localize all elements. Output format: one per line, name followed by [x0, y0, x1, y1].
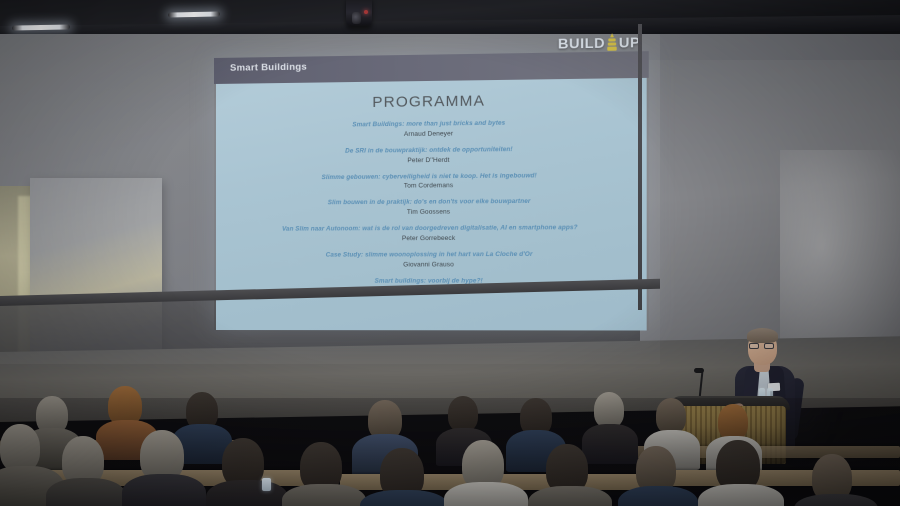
audience-shoulders — [618, 486, 698, 506]
list-item: Slimme gebouwen: cyberveiligheid is niet… — [216, 171, 647, 191]
audience-head — [718, 404, 748, 440]
programme-speaker: Tim Goossens — [216, 207, 647, 217]
programme-topic: Slim bouwen in de praktijk: do's en don'… — [216, 197, 647, 208]
microphone-icon — [694, 368, 704, 373]
projector-status-led-icon — [364, 10, 368, 14]
programme-speaker: Tom Cordemans — [216, 181, 647, 191]
slide-header-title: Smart Buildings — [230, 62, 307, 74]
list-item: Van Slim naar Autonoom: wat is de rol va… — [216, 224, 647, 243]
audience-shoulders — [46, 478, 126, 506]
screen-right-edge — [638, 24, 642, 310]
programme-speaker: Giovanni Grauso — [216, 260, 647, 268]
programme-speaker: Peter Gorrebeeck — [216, 234, 647, 243]
programme-topic: Van Slim naar Autonoom: wat is de rol va… — [216, 224, 647, 234]
presenter-hair — [747, 328, 778, 343]
audience-head — [448, 396, 478, 432]
desk-row-middle-right — [650, 470, 900, 486]
auditorium-scene: Smart Buildings BUILD UP PROGRAMMA Smart… — [0, 0, 900, 506]
projector-lens-icon — [352, 12, 361, 24]
projection-screen: Smart Buildings BUILD UP PROGRAMMA Smart… — [0, 34, 660, 364]
logo-word-build: BUILD — [558, 34, 605, 51]
stacked-blocks-icon — [607, 33, 616, 51]
audience-head — [0, 424, 40, 472]
audience-head — [594, 392, 624, 428]
audience-shoulders — [122, 474, 206, 506]
list-item: Slim bouwen in de praktijk: do's en don'… — [216, 197, 647, 217]
list-item: Smart Buildings: more than just bricks a… — [216, 118, 647, 140]
audience-shoulders — [528, 486, 612, 506]
programme-speaker: Peter D''Herdt — [216, 154, 647, 165]
audience-shoulders — [444, 482, 528, 506]
eyeglasses-icon — [749, 343, 775, 349]
programme-topic: Case Study: slimme woonoplossing in het … — [216, 250, 647, 259]
programme-list: Smart Buildings: more than just bricks a… — [216, 118, 647, 294]
smartphone-icon — [262, 478, 271, 491]
audience-shoulders — [282, 484, 366, 506]
list-item: De SRI in de bouwpraktijk: ontdek de opp… — [216, 144, 647, 165]
audience-shoulders — [206, 480, 288, 506]
audience-head — [656, 398, 686, 434]
audience-shoulders — [582, 424, 638, 464]
slide-title: PROGRAMMA — [216, 90, 647, 113]
build-up-logo: BUILD UP — [558, 33, 640, 52]
list-item: Case Study: slimme woonoplossing in het … — [216, 250, 647, 268]
audience-shoulders — [698, 484, 784, 506]
